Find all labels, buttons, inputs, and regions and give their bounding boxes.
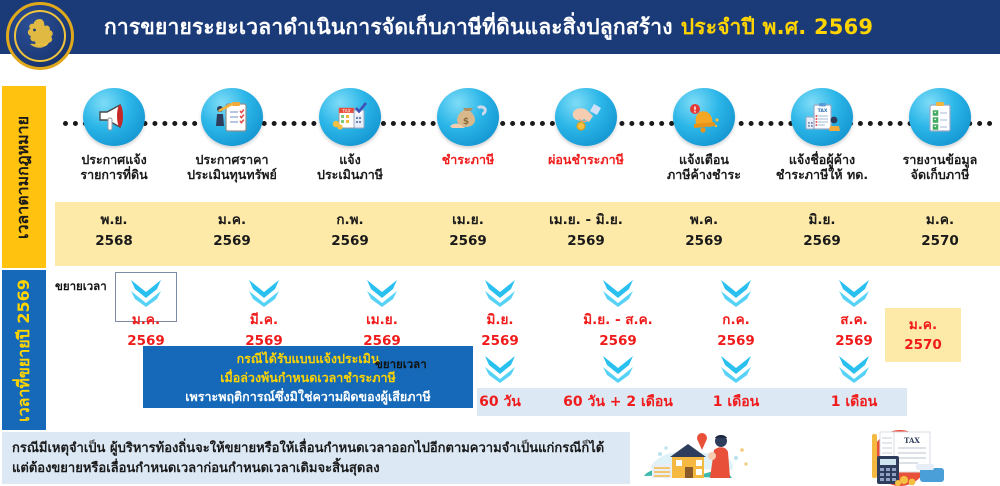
timeline-steps: ประกาศแจ้ง รายการที่ดิน ประกาศราคา ประเม… [55,88,1000,200]
timeline-step-8-label: รายงานข้อมูล จัดเก็บภาษี [881,152,999,182]
footer-note-line-1: กรณีมีเหตุจำเป็น ผู้บริหารท้องถิ่นจะให้ข… [12,439,620,459]
timeline-step-3[interactable]: TAX แจ้ง ประเมินภาษี [291,88,409,182]
chevron-down-icon-8 [480,352,520,386]
footer-note: กรณีมีเหตุจำเป็น ผู้บริหารท้องถิ่นจะให้ข… [2,432,630,484]
timeline-step-5[interactable]: ผ่อนชำระภาษี [527,88,645,167]
money-bag-icon: $ [437,88,499,146]
tax-document-calculator-illustration: TAX [872,430,944,486]
page-title-year: ประจำปี พ.ศ. 2569 [681,11,874,44]
timeline-step-1-label: ประกาศแจ้ง รายการที่ดิน [55,152,173,182]
footer-note-line-2: แต่ต้องขยายหรือเลื่อนกำหนดเวลาก่อนกำหนดเ… [12,459,620,479]
timeline-step-4-label: ชำระภาษี [409,152,527,167]
statutory-date-5: เม.ย. - มิ.ย.2569 [527,210,645,252]
statutory-date-6: พ.ค.2569 [645,210,763,252]
timeline-step-5-label: ผ่อนชำระภาษี [527,152,645,167]
timeline-step-4[interactable]: $ ชำระภาษี [409,88,527,167]
extension-note-label-2: ขยายเวลา [375,356,427,374]
chevron-down-icon-6 [716,276,756,310]
page-header: การขยายระยะเวลาดำเนินการจัดเก็บภาษีที่ดิ… [0,0,1000,54]
extension-note-label-1: ขยายเวลา [55,278,107,296]
sidebar-statutory-label: เวลาตามกฎหมาย [12,115,37,238]
extension-date-5: มิ.ย. - ส.ค.2569 [559,310,677,352]
statutory-date-7: มิ.ย.2569 [763,210,881,252]
timeline-step-7-label: แจ้งชื่อผู้ค้าง ชำระภาษีให้ ทด. [763,152,881,182]
garuda-singha-seal-icon [6,2,74,70]
checklist-icon [909,88,971,146]
sidebar-extended-label: เวลาที่ขยายปี 2569 [12,279,37,422]
megaphone-icon [83,88,145,146]
statutory-date-1: พ.ย.2568 [55,210,173,252]
extension-date-6: ก.ค.2569 [677,310,795,352]
page-title: การขยายระยะเวลาดำเนินการจัดเก็บภาษีที่ดิ… [104,0,990,54]
timeline-step-2-label: ประกาศราคา ประเมินทุนทรัพย์ [173,152,291,182]
tax-form-icon: TAX [319,88,381,146]
svg-text:$: $ [463,117,469,127]
chevron-down-icon-4 [480,276,520,310]
duration-label-1: 60 วัน [432,391,568,413]
timeline-step-2[interactable]: ประกาศราคา ประเมินทุนทรัพย์ [173,88,291,182]
svg-text:TAX: TAX [904,436,920,445]
bell-alert-icon: ! [673,88,735,146]
statutory-date-4: เม.ย.2569 [409,210,527,252]
duration-label-4: 1 เดือน [786,391,922,413]
statutory-date-band: พ.ย.2568 ม.ค.2569 ก.พ.2569 เม.ย.2569 เม.… [55,202,1000,266]
tax-list-icon: TAX [791,88,853,146]
sidebar-statutory-period: เวลาตามกฎหมาย [2,86,46,268]
statutory-date-8: ม.ค.2570 [881,210,999,252]
chevron-down-icon-7 [834,276,874,310]
chevron-down-icon-9 [598,352,638,386]
page-title-main: การขยายระยะเวลาดำเนินการจัดเก็บภาษีที่ดิ… [104,11,673,44]
timeline-step-6[interactable]: ! แจ้งเตือน ภาษีค้างชำระ [645,88,763,182]
house-with-person-illustration [644,433,748,478]
chevron-down-icon-5 [598,276,638,310]
chevron-down-icon-11 [834,352,874,386]
extension-row: ขยายเวลา ม.ค.2569 มี.ค.2569 เม.ย.2569 มิ… [55,270,1000,430]
chevron-down-icon-10 [716,352,756,386]
hand-coin-icon [555,88,617,146]
chevron-down-icon-2 [244,276,284,310]
timeline-step-7[interactable]: TAX แจ้งชื่อผู้ค้าง ชำระภาษีให้ ทด. [763,88,881,182]
svg-text:!: ! [693,105,697,114]
timeline-step-3-label: แจ้ง ประเมินภาษี [291,152,409,182]
duration-label-3: 1 เดือน [668,391,804,413]
duration-label-2: 60 วัน + 2 เดือน [550,391,686,413]
statutory-date-2: ม.ค.2569 [173,210,291,252]
clipboard-person-icon [201,88,263,146]
timeline-step-8[interactable]: รายงานข้อมูล จัดเก็บภาษี [881,88,999,182]
info-box-line-3: เพราะพฤติการณ์ซึ่งมิใช่ความผิดของผู้เสีย… [143,387,473,406]
chevron-down-icon-3 [362,276,402,310]
chevron-down-icon-1 [126,276,166,310]
timeline-step-1[interactable]: ประกาศแจ้ง รายการที่ดิน [55,88,173,182]
footer-illustrations: TAX [636,428,1000,486]
svg-text:TAX: TAX [818,108,828,114]
svg-text:TAX: TAX [341,108,350,114]
sidebar-extended-period: เวลาที่ขยายปี 2569 [2,270,46,430]
extension-final-date-box: ม.ค. 2570 [885,308,961,362]
timeline-step-6-label: แจ้งเตือน ภาษีค้างชำระ [645,152,763,182]
statutory-date-3: ก.พ.2569 [291,210,409,252]
